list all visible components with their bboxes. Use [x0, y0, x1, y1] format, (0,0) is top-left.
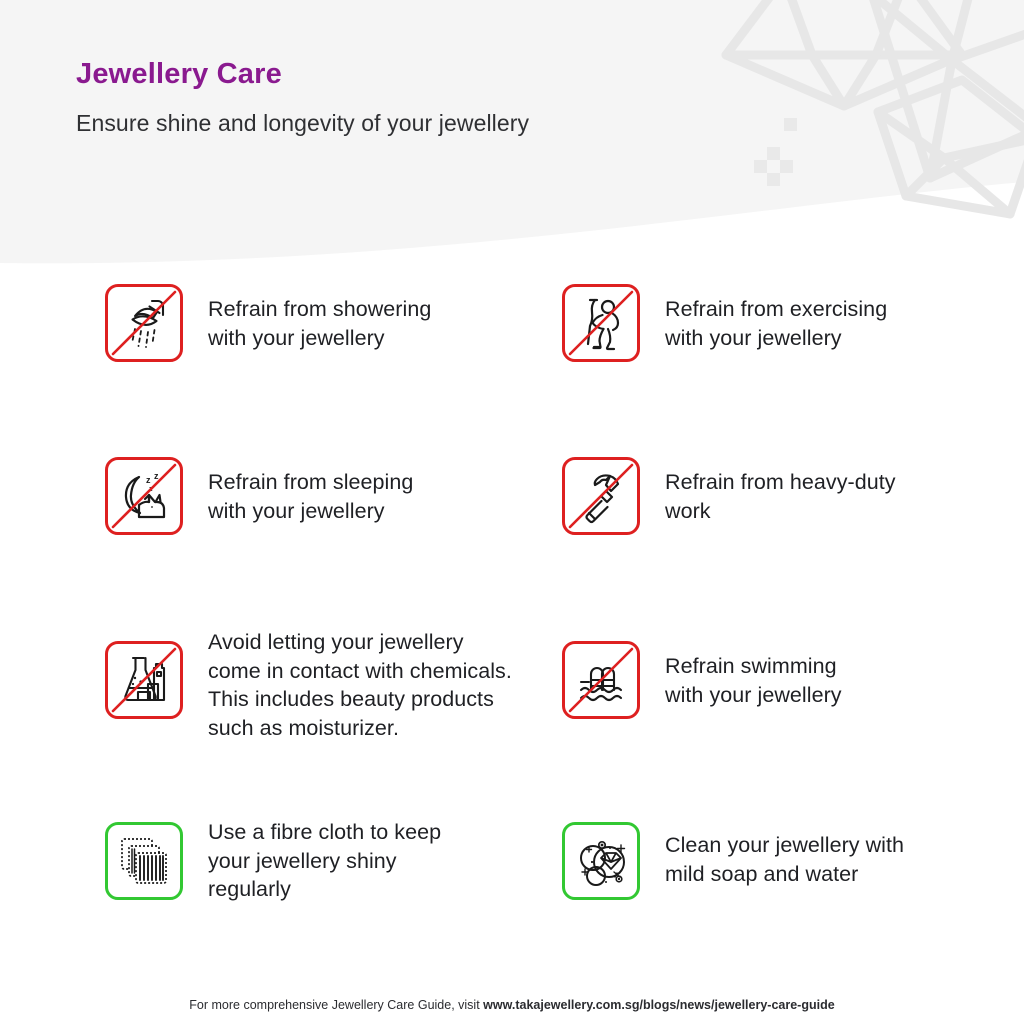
- decorative-diamonds: [0, 0, 1024, 275]
- soap-bubbles-diamond-icon: [565, 825, 637, 897]
- footer: For more comprehensive Jewellery Care Gu…: [0, 998, 1024, 1012]
- prohibition-slash: [105, 284, 183, 362]
- fibre-cloth-stack-icon: [108, 825, 180, 897]
- care-item-label: Refrain from showering with your jewelle…: [208, 295, 538, 352]
- care-item-label: Refrain from exercising with your jewell…: [665, 295, 1005, 352]
- prohibition-slash: [562, 641, 640, 719]
- care-item-label: Refrain swimming with your jewellery: [665, 652, 1005, 709]
- prohibition-slash: [562, 284, 640, 362]
- infographic-page: Jewellery Care Ensure shine and longevit…: [0, 0, 1024, 1024]
- prohibition-slash: [105, 457, 183, 535]
- prohibition-slash: [562, 457, 640, 535]
- prohibition-slash: [105, 641, 183, 719]
- care-item-label: Refrain from heavy-duty work: [665, 468, 1005, 525]
- icon-box-do: [105, 822, 183, 900]
- page-title: Jewellery Care: [76, 58, 282, 91]
- sparkle-squares: [754, 118, 797, 186]
- footer-prefix: For more comprehensive Jewellery Care Gu…: [189, 998, 483, 1012]
- header-band: Jewellery Care Ensure shine and longevit…: [0, 0, 1024, 275]
- care-item-label: Use a fibre cloth to keep your jewellery…: [208, 818, 558, 904]
- footer-url[interactable]: www.takajewellery.com.sg/blogs/news/jewe…: [483, 998, 835, 1012]
- icon-box-do: [562, 822, 640, 900]
- care-item-label: Refrain from sleeping with your jeweller…: [208, 468, 538, 525]
- care-item-label: Clean your jewellery with mild soap and …: [665, 831, 1015, 888]
- care-item-label: Avoid letting your jewellery come in con…: [208, 628, 608, 742]
- page-subtitle: Ensure shine and longevity of your jewel…: [76, 110, 529, 137]
